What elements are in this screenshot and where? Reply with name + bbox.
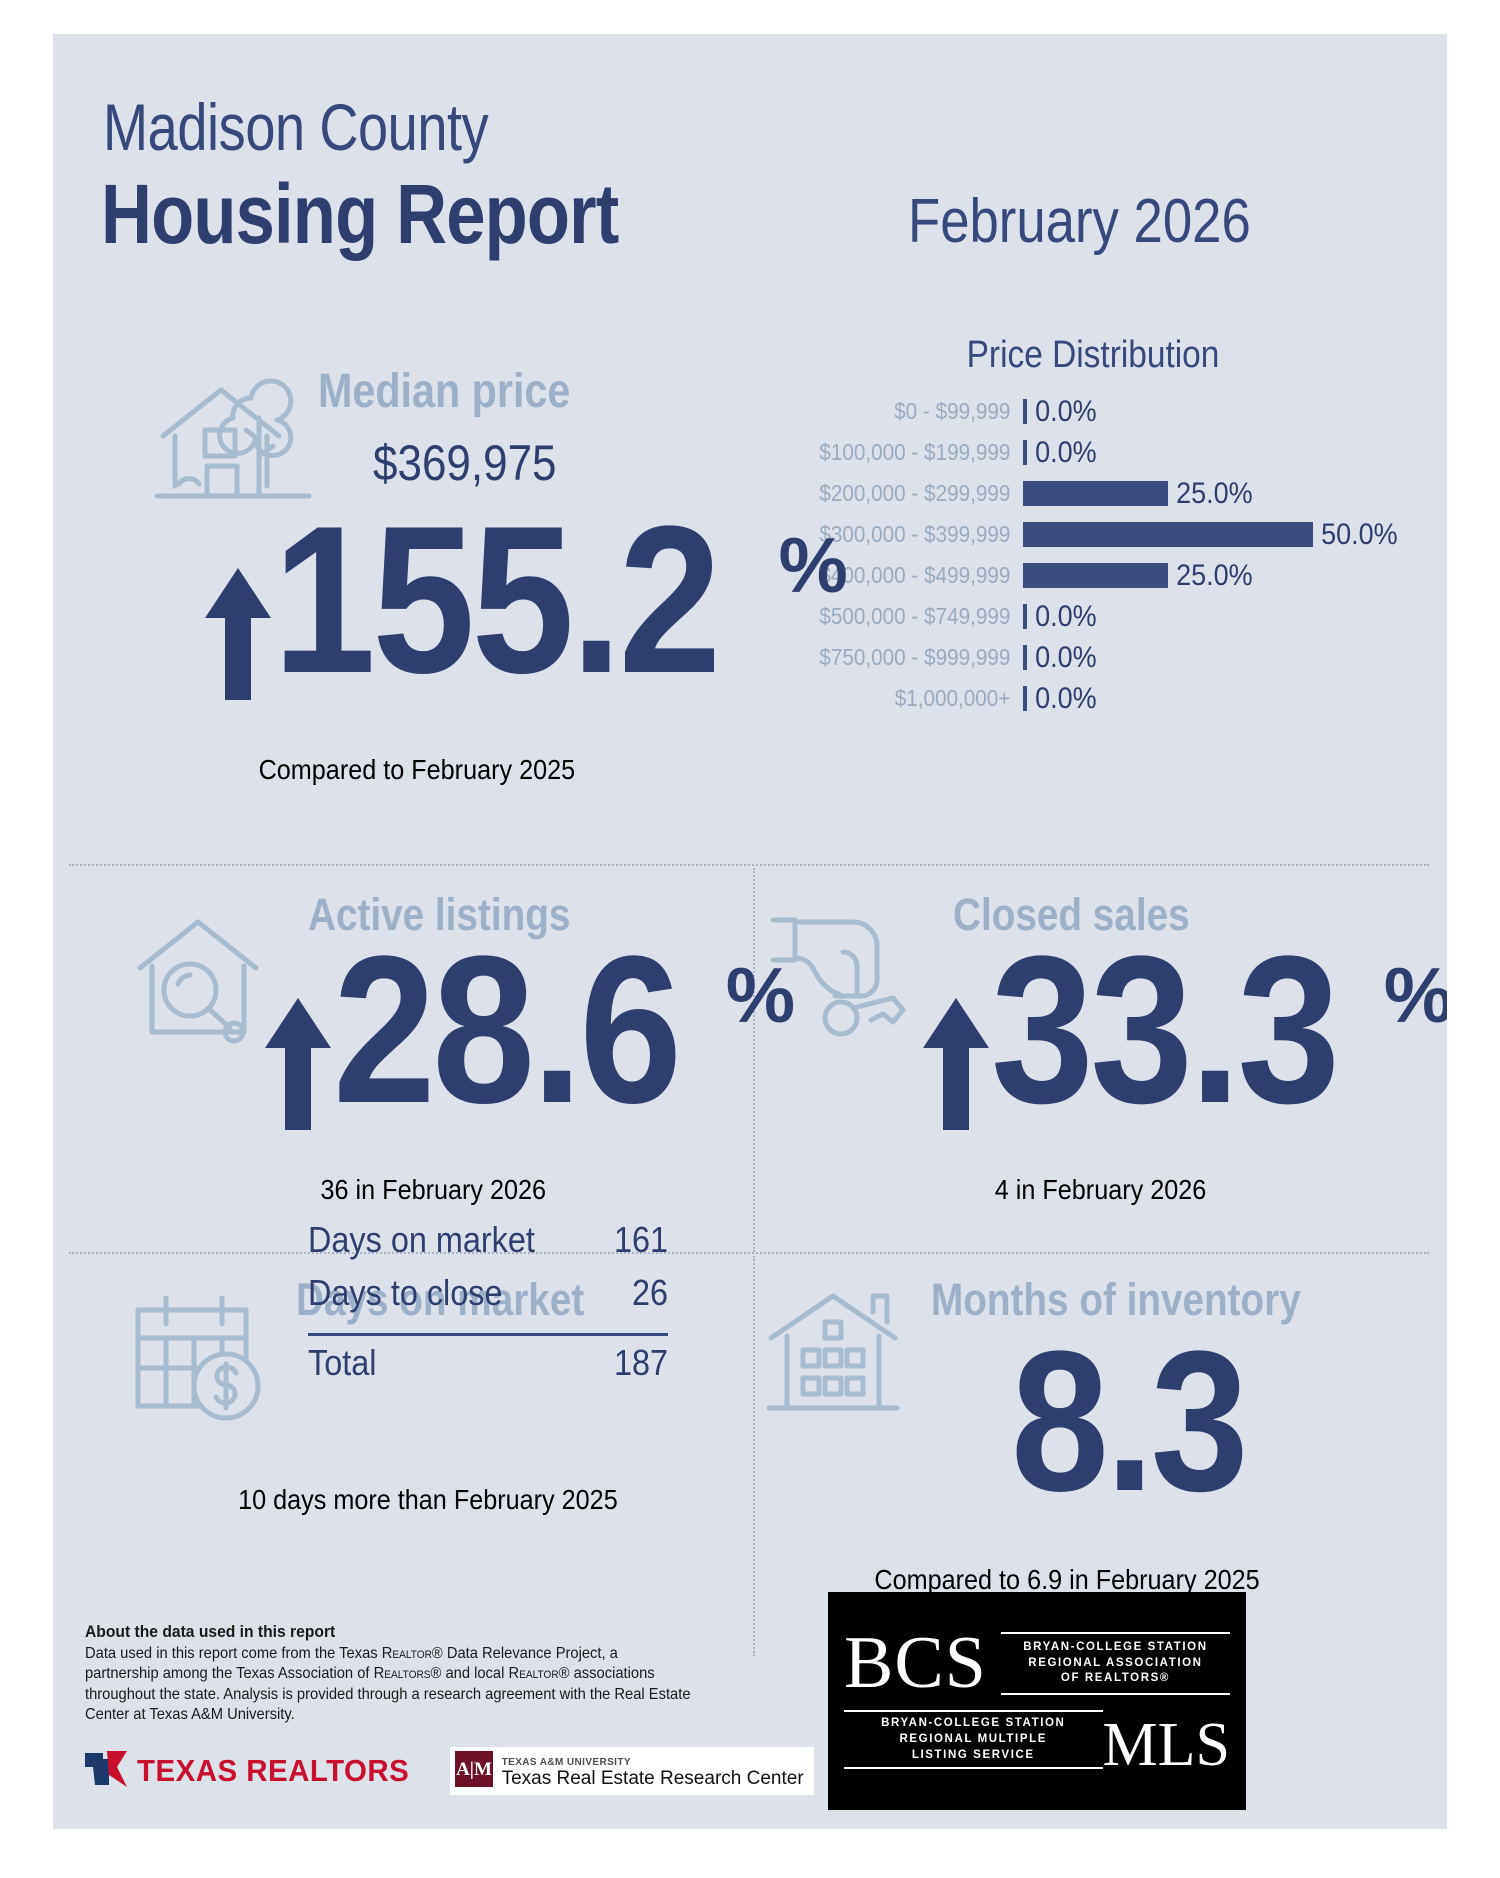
divider-horizontal-top xyxy=(69,864,1429,866)
closed-sales-caption: 4 in February 2026 xyxy=(995,1174,1207,1206)
housing-report-page: Madison County Housing Report February 2… xyxy=(53,34,1447,1829)
price-distribution-row: $100,000 - $199,9990.0% xyxy=(773,432,1413,473)
bcs-mls-line1: BRYAN-COLLEGE STATION xyxy=(844,1715,1103,1731)
bcs-mls-logo: BCS BRYAN-COLLEGE STATION REGIONAL ASSOC… xyxy=(828,1592,1246,1810)
price-distribution-rows: $0 - $99,9990.0%$100,000 - $199,9990.0%$… xyxy=(773,391,1413,719)
trerc-name: Texas Real Estate Research Center xyxy=(502,1768,804,1789)
price-distribution-row: $400,000 - $499,99925.0% xyxy=(773,555,1413,596)
house-search-icon xyxy=(128,908,268,1053)
texas-realtors-logo: TEXAS REALTORS xyxy=(83,1749,424,1794)
texas-state-icon xyxy=(83,1749,129,1794)
price-band-value: 0.0% xyxy=(1027,600,1097,634)
table-row-value: 161 xyxy=(614,1219,668,1261)
price-band-label: $200,000 - $299,999 xyxy=(798,480,1023,507)
arrow-up-icon xyxy=(263,944,333,1137)
table-row-label: Days to close xyxy=(308,1272,502,1314)
median-price-heading: Median price xyxy=(318,364,570,419)
price-band-bar-wrap: 0.0% xyxy=(1023,682,1104,716)
page-title-report: Housing Report xyxy=(101,166,618,263)
months-of-inventory-value: 8.3 xyxy=(1011,1340,1245,1504)
median-change-value: 155.2 xyxy=(273,514,718,686)
about-line2-sc2: Realtor xyxy=(508,1665,558,1682)
price-distribution-row: $200,000 - $299,99925.0% xyxy=(773,473,1413,514)
about-line2-c: ® xyxy=(559,1665,570,1682)
total-label: Total xyxy=(308,1342,376,1384)
divider-horizontal-bottom xyxy=(69,1252,1429,1254)
price-band-value: 0.0% xyxy=(1027,395,1097,429)
about-line2-sc: Realtors xyxy=(374,1665,431,1682)
hand-key-icon xyxy=(765,902,925,1057)
days-on-market-table: Days on market161Days to close26 Total 1… xyxy=(308,1219,668,1395)
footer-logos: TEXAS REALTORS A|M TEXAS A&M UNIVERSITY … xyxy=(83,1747,814,1795)
about-data-block: About the data used in this report Data … xyxy=(85,1622,705,1726)
closed-sales-change-percent: % xyxy=(1384,950,1447,1041)
about-body: Data used in this report come from the T… xyxy=(85,1644,692,1726)
price-band-value: 0.0% xyxy=(1027,641,1097,675)
table-row-label: Days on market xyxy=(308,1219,535,1261)
bcs-assoc-line3: OF REALTORS® xyxy=(1001,1671,1230,1687)
bcs-mls-line2: REGIONAL MULTIPLE xyxy=(844,1731,1103,1747)
table-rule xyxy=(308,1333,668,1336)
arrow-up-icon xyxy=(203,514,273,707)
price-band-bar-wrap: 0.0% xyxy=(1023,436,1104,470)
price-band-value: 0.0% xyxy=(1027,436,1097,470)
price-band-bar-wrap: 0.0% xyxy=(1023,600,1104,634)
bcs-mls-letters: MLS xyxy=(1103,1719,1230,1772)
svg-text:A|M: A|M xyxy=(456,1759,492,1780)
price-band-bar-wrap: 25.0% xyxy=(1023,559,1262,593)
median-change-percent: % xyxy=(779,520,848,611)
about-title: About the data used in this report xyxy=(85,1622,655,1642)
price-band-bar-wrap: 0.0% xyxy=(1023,641,1104,675)
bcs-rule-top xyxy=(844,1710,1103,1712)
about-line1-sc: Realtor xyxy=(382,1645,432,1662)
texas-am-shield-icon: A|M xyxy=(454,1749,494,1794)
about-line1-a: Data used in this report come from the T… xyxy=(85,1645,382,1662)
trerc-university: TEXAS A&M UNIVERSITY xyxy=(502,1757,631,1768)
price-band-value: 0.0% xyxy=(1027,682,1097,716)
price-distribution-row: $500,000 - $749,9990.0% xyxy=(773,596,1413,637)
price-band-bar-wrap: 25.0% xyxy=(1023,477,1262,511)
active-listings-change-value: 28.6 xyxy=(333,944,679,1116)
price-band-bar-wrap: 0.0% xyxy=(1023,395,1104,429)
active-listings-change-row: 28.6 % xyxy=(263,944,795,1137)
about-line2-a: partnership among the Texas Association … xyxy=(85,1665,374,1682)
bcs-association-text: BRYAN-COLLEGE STATION REGIONAL ASSOCIATI… xyxy=(1001,1632,1230,1695)
trerc-text: TEXAS A&M UNIVERSITY Texas Real Estate R… xyxy=(502,1753,804,1790)
median-caption: Compared to February 2025 xyxy=(259,754,576,786)
bcs-mls-text: BRYAN-COLLEGE STATION REGIONAL MULTIPLE … xyxy=(844,1707,1103,1772)
bcs-assoc-line2: REGIONAL ASSOCIATION xyxy=(1001,1656,1230,1672)
about-line2-b: ® and local xyxy=(431,1665,509,1682)
closed-sales-change-row: 33.3 % xyxy=(921,944,1447,1137)
bcs-mls-line3: LISTING SERVICE xyxy=(844,1747,1103,1763)
report-header: Madison County Housing Report February 2… xyxy=(53,34,1447,354)
price-band-value: 25.0% xyxy=(1168,477,1253,511)
total-value: 187 xyxy=(614,1342,668,1384)
price-band-value: 25.0% xyxy=(1168,559,1253,593)
texas-realtors-wordmark: TEXAS REALTORS xyxy=(137,1753,409,1789)
price-band-bar xyxy=(1023,481,1168,506)
median-change-row: 155.2 % xyxy=(203,514,848,707)
page-title-county: Madison County xyxy=(103,89,488,165)
closed-sales-change-value: 33.3 xyxy=(991,944,1337,1116)
bcs-assoc-line1: BRYAN-COLLEGE STATION xyxy=(1001,1640,1230,1656)
arrow-up-icon xyxy=(921,944,991,1137)
price-band-bar-wrap: 50.0% xyxy=(1023,518,1407,552)
price-distribution-title: Price Distribution xyxy=(811,334,1374,377)
trerc-logo: A|M TEXAS A&M UNIVERSITY Texas Real Esta… xyxy=(450,1747,814,1795)
price-distribution-row: $1,000,000+0.0% xyxy=(773,678,1413,719)
price-distribution-row: $300,000 - $399,99950.0% xyxy=(773,514,1413,555)
price-band-bar xyxy=(1023,522,1313,547)
price-distribution-row: $0 - $99,9990.0% xyxy=(773,391,1413,432)
active-listings-caption: 36 in February 2026 xyxy=(321,1174,547,1206)
bcs-logo-bottom: BRYAN-COLLEGE STATION REGIONAL MULTIPLE … xyxy=(844,1707,1230,1772)
days-on-market-caption: 10 days more than February 2025 xyxy=(238,1484,618,1516)
table-row: Days on market161 xyxy=(308,1219,668,1272)
table-row-total: Total 187 xyxy=(308,1342,668,1395)
calendar-dollar-icon xyxy=(128,1294,278,1429)
price-band-value: 50.0% xyxy=(1313,518,1398,552)
apartment-building-icon xyxy=(763,1288,913,1428)
bcs-rule-bottom xyxy=(844,1767,1103,1769)
divider-vertical-lower xyxy=(753,1256,755,1656)
price-band-label: $100,000 - $199,999 xyxy=(798,439,1023,466)
bcs-letters: BCS xyxy=(844,1630,987,1697)
table-row-value: 26 xyxy=(632,1272,668,1314)
price-distribution-chart: Price Distribution $0 - $99,9990.0%$100,… xyxy=(773,334,1413,719)
report-month: February 2026 xyxy=(908,186,1251,257)
price-distribution-row: $750,000 - $999,9990.0% xyxy=(773,637,1413,678)
bcs-logo-top: BCS BRYAN-COLLEGE STATION REGIONAL ASSOC… xyxy=(844,1630,1230,1697)
price-band-bar xyxy=(1023,563,1168,588)
about-line1-b: ® Data Relevance Project, a xyxy=(432,1645,618,1662)
table-row: Days to close26 xyxy=(308,1272,668,1325)
price-band-label: $0 - $99,999 xyxy=(798,398,1023,425)
